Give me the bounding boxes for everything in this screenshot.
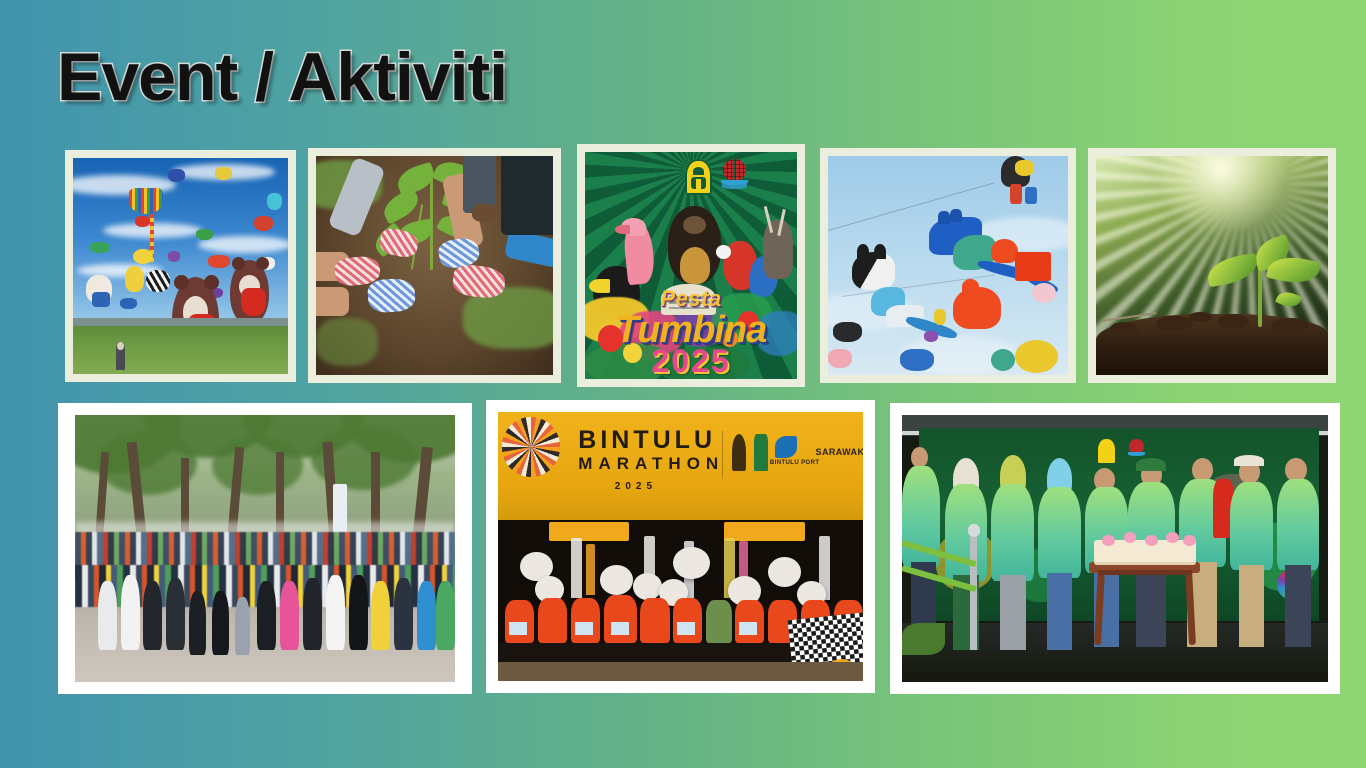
marathon-banner-line3: 2025 <box>615 482 657 492</box>
department-globe-logo <box>721 159 749 195</box>
sarawak-crest-logo <box>685 159 713 195</box>
photo-bintulu-marathon: BINTULU MARATHON 2025 BINTULU PORT SARAW… <box>498 412 863 681</box>
marathon-rosette-icon <box>502 417 560 476</box>
photo-tree-planting <box>316 156 553 375</box>
marathon-sponsor-1: BINTULU PORT <box>770 460 819 466</box>
backdrop-crest-icon <box>1098 439 1115 463</box>
marathon-banner-line2: MARATHON <box>578 455 724 472</box>
gallery-item-seedling-sunlight[interactable] <box>1088 148 1336 383</box>
gallery-item-tree-planting-hands[interactable] <box>308 148 561 383</box>
gallery-item-pesta-tumbina-poster[interactable]: Pesta Tumbina 2025 <box>577 144 805 387</box>
poster-title-line3: 2025 <box>585 345 797 377</box>
photo-cake-cutting <box>902 415 1328 682</box>
page-title: Event / Aktiviti <box>57 38 507 116</box>
marathon-banner-line1: BINTULU <box>578 428 716 453</box>
poster-title-line1: Pesta <box>585 288 797 310</box>
gallery-item-kite-festival-mascots[interactable] <box>65 150 296 382</box>
gallery-item-kites-in-sky[interactable] <box>820 148 1076 383</box>
photo-seedling <box>1096 156 1328 375</box>
gallery-item-park-group-photo[interactable] <box>58 403 472 694</box>
photo-kite-festival <box>73 158 288 374</box>
photo-park-group <box>75 415 455 682</box>
photo-pesta-tumbina-poster: Pesta Tumbina 2025 <box>585 152 797 379</box>
gallery-item-bintulu-marathon-start[interactable]: BINTULU MARATHON 2025 BINTULU PORT SARAW… <box>486 400 875 693</box>
gallery-item-cake-cutting-ceremony[interactable] <box>890 403 1340 694</box>
photo-kites-in-sky <box>828 156 1068 375</box>
marathon-sponsor-2: SARAWAK <box>816 447 863 457</box>
